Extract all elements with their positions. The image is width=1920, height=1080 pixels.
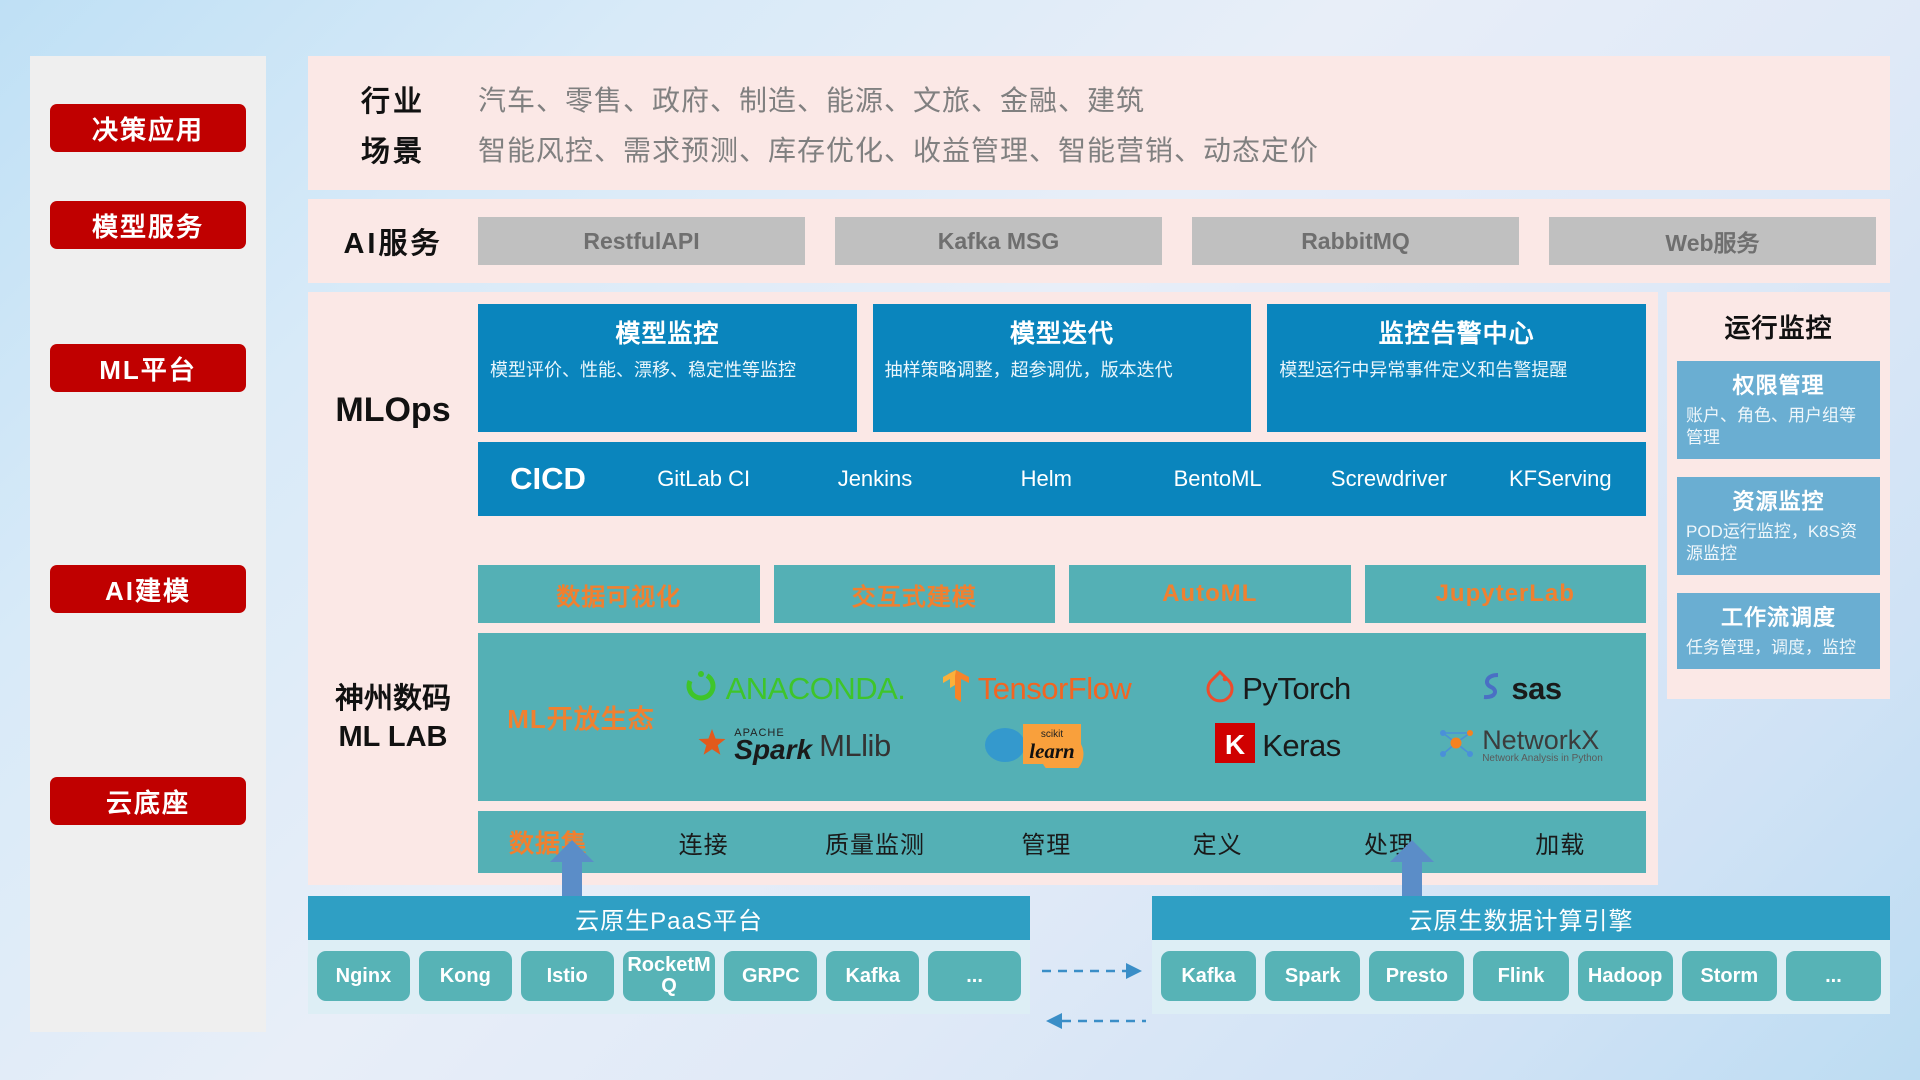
ai-service-button-group: RestfulAPI Kafka MSG RabbitMQ Web服务 — [478, 217, 1890, 265]
chip-hadoop[interactable]: Hadoop — [1578, 951, 1673, 1001]
rail-item-decision[interactable]: 决策应用 — [50, 104, 246, 152]
networkx-icon — [1437, 724, 1475, 767]
mlops-label: MLOps — [308, 304, 478, 516]
runtime-monitor-rail: 运行监控 权限管理 账户、角色、用户组等管理 资源监控 POD运行监控，K8S资… — [1667, 292, 1890, 699]
svg-text:K: K — [1225, 729, 1245, 760]
cicd-item-helm[interactable]: Helm — [961, 466, 1132, 491]
logo-sas-text: sas — [1511, 671, 1561, 707]
logo-grid: ANACONDA. TensorFlow PyTor — [676, 661, 1638, 773]
chip-kong[interactable]: Kong — [419, 951, 512, 1001]
chip-kafka[interactable]: Kafka — [826, 951, 919, 1001]
spark-name-text: Spark — [734, 738, 812, 762]
ai-service-button-kafka-msg[interactable]: Kafka MSG — [835, 217, 1162, 265]
tensorflow-icon — [941, 668, 971, 709]
ai-service-band: AI服务 RestfulAPI Kafka MSG RabbitMQ Web服务 — [308, 199, 1890, 283]
cloud-connector-arrows — [1040, 955, 1148, 1045]
rail-item-ml-platform[interactable]: ML平台 — [50, 344, 246, 392]
monitor-card-resource[interactable]: 资源监控 POD运行监控，K8S资源监控 — [1677, 477, 1880, 575]
logo-tensorflow-text: TensorFlow — [978, 671, 1132, 707]
cicd-item-bentoml[interactable]: BentoML — [1132, 466, 1303, 491]
logo-networkx-text: NetworkX — [1482, 727, 1603, 754]
monitor-card-permission[interactable]: 权限管理 账户、角色、用户组等管理 — [1677, 361, 1880, 459]
chip-more[interactable]: ... — [928, 951, 1021, 1001]
ml-open-ecosystem-row: ML开放生态 ANACONDA. TensorFlow — [478, 633, 1646, 801]
chip-presto[interactable]: Presto — [1369, 951, 1464, 1001]
chip-kafka-de[interactable]: Kafka — [1161, 951, 1256, 1001]
industry-label: 行业 — [308, 78, 478, 120]
rail-item-ai-modeling[interactable]: AI建模 — [50, 565, 246, 613]
ml-lab-label-line1: 神州数码 — [335, 681, 451, 719]
rail-label: 模型服务 — [92, 207, 204, 244]
cloud-data-engine-chips: Kafka Spark Presto Flink Hadoop Storm ..… — [1152, 940, 1890, 1014]
rail-label: 云底座 — [106, 783, 190, 820]
industry-value: 汽车、零售、政府、制造、能源、文旅、金融、建筑 — [478, 79, 1145, 119]
tool-interactive-modeling[interactable]: 交互式建模 — [774, 565, 1056, 623]
monitor-card-title: 资源监控 — [1686, 484, 1871, 516]
dataset-item-manage[interactable]: 管理 — [961, 825, 1132, 860]
scenario-value: 智能风控、需求预测、库存优化、收益管理、智能营销、动态定价 — [478, 129, 1319, 169]
ml-lab-band: 神州数码 ML LAB 数据可视化 交互式建模 AutoML JupyterLa… — [308, 553, 1658, 885]
scenario-label: 场景 — [308, 128, 478, 170]
cloud-data-engine-title: 云原生数据计算引擎 — [1152, 896, 1890, 940]
layer-rail: 决策应用 模型服务 ML平台 AI建模 云底座 — [30, 56, 266, 1032]
cloud-data-engine-group: 云原生数据计算引擎 Kafka Spark Presto Flink Hadoo… — [1152, 896, 1890, 1014]
chip-more-de[interactable]: ... — [1786, 951, 1881, 1001]
rail-item-model-service[interactable]: 模型服务 — [50, 201, 246, 249]
tool-jupyterlab[interactable]: JupyterLab — [1365, 565, 1647, 623]
dataset-row: 数据集 连接 质量监测 管理 定义 处理 加载 — [478, 811, 1646, 873]
logo-keras-text: Keras — [1262, 728, 1340, 764]
cicd-bar: CICD GitLab CI Jenkins Helm BentoML Scre… — [478, 442, 1646, 516]
logo-sas: sas — [1478, 670, 1561, 707]
runtime-monitor-title: 运行监控 — [1677, 308, 1880, 345]
monitor-card-desc: 任务管理，调度，监控 — [1686, 637, 1871, 659]
keras-icon: K — [1215, 723, 1255, 768]
cloud-paas-group: 云原生PaaS平台 Nginx Kong Istio RocketMQ GRPC… — [308, 896, 1030, 1014]
cicd-item-gitlab-ci[interactable]: GitLab CI — [618, 466, 789, 491]
chip-storm[interactable]: Storm — [1682, 951, 1777, 1001]
monitor-card-desc: POD运行监控，K8S资源监控 — [1686, 521, 1871, 565]
mlops-card-desc: 模型运行中异常事件定义和告警提醒 — [1279, 358, 1634, 382]
logo-scikit-learn: scikit learn — [981, 718, 1091, 773]
cloud-paas-chips: Nginx Kong Istio RocketMQ GRPC Kafka ... — [308, 940, 1030, 1014]
logo-anaconda: ANACONDA. — [683, 668, 906, 709]
svg-text:learn: learn — [1029, 739, 1075, 763]
chip-istio[interactable]: Istio — [521, 951, 614, 1001]
mlops-card-desc: 模型评价、性能、漂移、稳定性等监控 — [490, 358, 845, 382]
cicd-item-jenkins[interactable]: Jenkins — [789, 466, 960, 491]
sas-icon — [1478, 670, 1504, 707]
pytorch-icon — [1205, 669, 1235, 708]
chip-rocketmq[interactable]: RocketMQ — [623, 951, 716, 1001]
industry-scenario-band: 行业 汽车、零售、政府、制造、能源、文旅、金融、建筑 场景 智能风控、需求预测、… — [308, 56, 1890, 190]
mlops-card-title: 监控告警中心 — [1279, 314, 1634, 350]
chip-spark[interactable]: Spark — [1265, 951, 1360, 1001]
ai-service-button-web[interactable]: Web服务 — [1549, 217, 1876, 265]
logo-tensorflow: TensorFlow — [941, 668, 1132, 709]
mlops-card-alert-center[interactable]: 监控告警中心 模型运行中异常事件定义和告警提醒 — [1267, 304, 1646, 432]
dataset-item-connect[interactable]: 连接 — [618, 825, 789, 860]
logo-pytorch-text: PyTorch — [1242, 671, 1350, 707]
mlops-card-group: 模型监控 模型评价、性能、漂移、稳定性等监控 模型迭代 抽样策略调整，超参调优，… — [478, 304, 1646, 432]
ml-open-ecosystem-label: ML开放生态 — [486, 699, 676, 736]
spark-star-icon — [697, 728, 727, 763]
monitor-card-title: 工作流调度 — [1686, 600, 1871, 632]
mlops-card-desc: 抽样策略调整，超参调优，版本迭代 — [885, 358, 1240, 382]
mlops-card-model-iteration[interactable]: 模型迭代 抽样策略调整，超参调优，版本迭代 — [873, 304, 1252, 432]
monitor-card-title: 权限管理 — [1686, 368, 1871, 400]
logo-pytorch: PyTorch — [1205, 669, 1350, 708]
rail-label: 决策应用 — [92, 110, 204, 147]
cicd-title: CICD — [478, 461, 618, 497]
ml-lab-label-line2: ML LAB — [338, 719, 447, 757]
monitor-card-workflow[interactable]: 工作流调度 任务管理，调度，监控 — [1677, 593, 1880, 669]
networkx-subtitle: Network Analysis in Python — [1482, 754, 1603, 764]
logo-spark-mllib: APACHE Spark MLlib — [697, 728, 890, 764]
cloud-paas-title: 云原生PaaS平台 — [308, 896, 1030, 940]
rail-item-cloud-base[interactable]: 云底座 — [50, 777, 246, 825]
mlops-card-title: 模型迭代 — [885, 314, 1240, 350]
ml-lab-label: 神州数码 ML LAB — [308, 565, 478, 873]
logo-networkx: NetworkX Network Analysis in Python — [1437, 724, 1603, 767]
ai-service-label: AI服务 — [308, 220, 478, 262]
ai-service-button-restfulapi[interactable]: RestfulAPI — [478, 217, 805, 265]
up-arrow-data-icon — [1388, 840, 1436, 896]
up-arrow-paas-icon — [548, 840, 596, 896]
chip-grpc[interactable]: GRPC — [724, 951, 817, 1001]
logo-anaconda-text: ANACONDA. — [726, 671, 906, 707]
chip-flink[interactable]: Flink — [1473, 951, 1568, 1001]
anaconda-icon — [683, 668, 719, 709]
industry-row: 行业 汽车、零售、政府、制造、能源、文旅、金融、建筑 — [308, 74, 1890, 124]
monitor-card-desc: 账户、角色、用户组等管理 — [1686, 405, 1871, 449]
mlops-card-model-monitoring[interactable]: 模型监控 模型评价、性能、漂移、稳定性等监控 — [478, 304, 857, 432]
rail-label: ML平台 — [99, 350, 197, 387]
tool-automl[interactable]: AutoML — [1069, 565, 1351, 623]
ml-lab-tool-group: 数据可视化 交互式建模 AutoML JupyterLab — [478, 565, 1646, 623]
dataset-item-quality[interactable]: 质量监测 — [789, 825, 960, 860]
dataset-item-load[interactable]: 加载 — [1475, 825, 1646, 860]
tool-data-visualization[interactable]: 数据可视化 — [478, 565, 760, 623]
ai-service-button-rabbitmq[interactable]: RabbitMQ — [1192, 217, 1519, 265]
logo-keras: K Keras — [1215, 723, 1340, 768]
cicd-item-screwdriver[interactable]: Screwdriver — [1303, 466, 1474, 491]
dataset-item-define[interactable]: 定义 — [1132, 825, 1303, 860]
scikit-learn-icon: scikit learn — [981, 718, 1091, 773]
mlops-card-title: 模型监控 — [490, 314, 845, 350]
scenario-row: 场景 智能风控、需求预测、库存优化、收益管理、智能营销、动态定价 — [308, 124, 1890, 174]
rail-label: AI建模 — [105, 571, 191, 608]
mllib-text: MLlib — [819, 728, 891, 764]
chip-nginx[interactable]: Nginx — [317, 951, 410, 1001]
cicd-item-kfserving[interactable]: KFServing — [1475, 466, 1646, 491]
